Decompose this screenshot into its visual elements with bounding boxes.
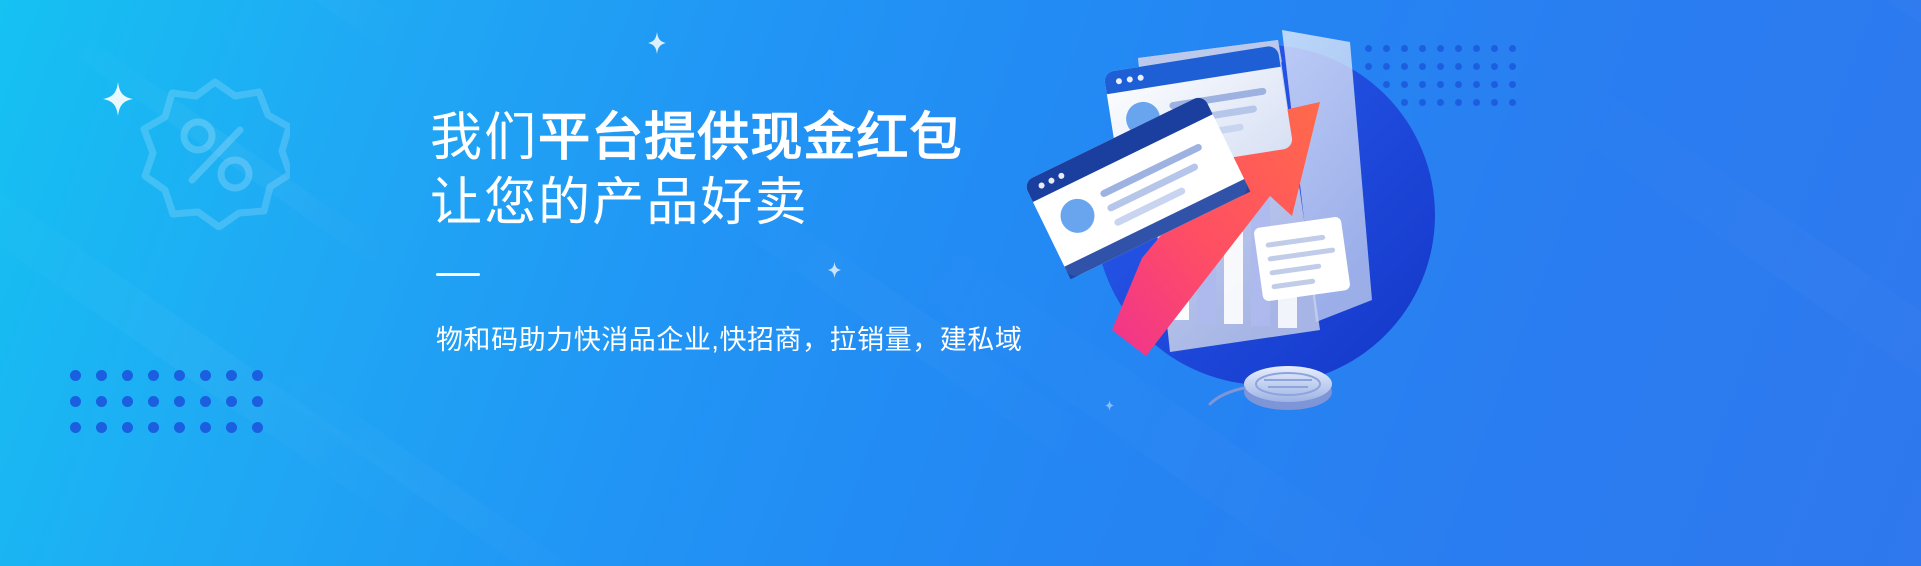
document-card xyxy=(1253,216,1350,302)
background-streak xyxy=(1669,0,1921,88)
background-streak xyxy=(1541,67,1921,467)
percent-badge-icon xyxy=(140,78,290,235)
dot-grid-bottom-left xyxy=(70,370,278,448)
headline-line-2: 让您的产品好卖 xyxy=(430,173,1070,234)
promo-banner: 我们平台提供现金红包 让您的产品好卖 物和码助力快消品企业,快招商，拉销量，建私… xyxy=(0,0,1921,566)
headline-line-1: 我们平台提供现金红包 xyxy=(430,108,1070,169)
banner-copy: 我们平台提供现金红包 让您的产品好卖 物和码助力快消品企业,快招商，拉销量，建私… xyxy=(430,108,1070,357)
background-streak xyxy=(233,341,627,566)
sparkle-icon xyxy=(103,82,133,116)
headline-light-part: 我们 xyxy=(430,109,538,167)
headline-bold-part: 平台提供现金红包 xyxy=(538,109,962,167)
headline-divider xyxy=(436,273,480,276)
background-streak xyxy=(0,0,423,62)
sparkle-icon xyxy=(648,32,666,54)
banner-subtitle: 物和码助力快消品企业,快招商，拉销量，建私域 xyxy=(436,318,1070,357)
growth-analytics-illustration xyxy=(1020,0,1500,470)
